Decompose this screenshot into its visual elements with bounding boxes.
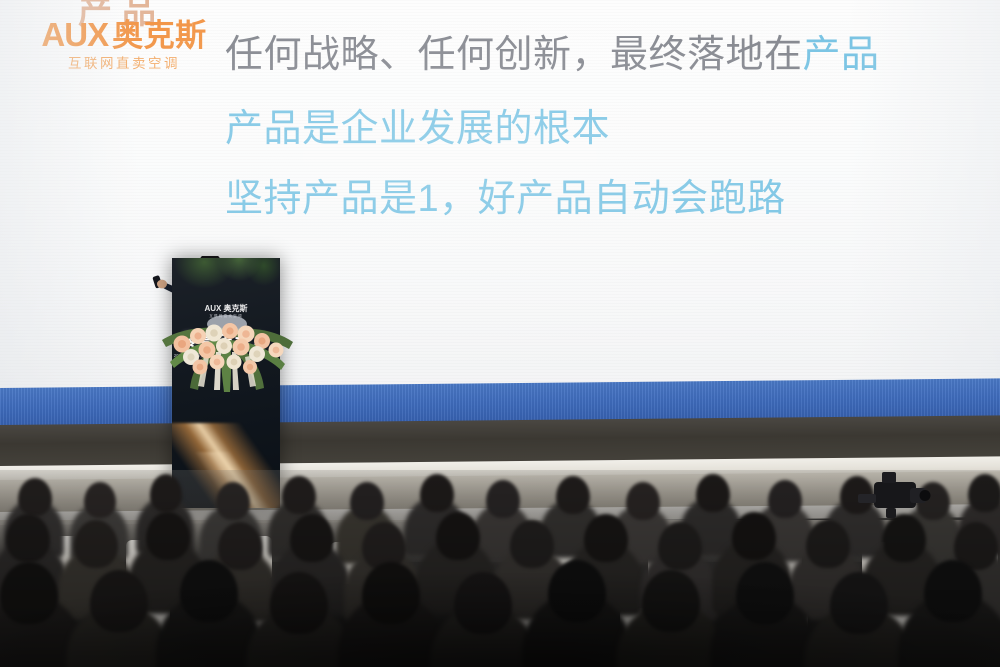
audience-member — [282, 476, 316, 514]
audience-member — [626, 482, 660, 520]
audience-member — [420, 474, 454, 512]
audience-member — [180, 560, 238, 622]
slide-text-block: 任何战略、任何创新，最终落地在产品 产品是企业发展的根本 坚持产品是1，好产品自… — [225, 36, 985, 218]
audience-seating-area — [0, 470, 1000, 667]
slide-line-3: 坚持产品是1，好产品自动会跑路 — [225, 180, 985, 218]
camera-mic — [858, 494, 876, 503]
audience-member — [74, 520, 118, 568]
camera-body — [874, 482, 916, 508]
slide-line-1: 任何战略、任何创新，最终落地在产品 — [225, 36, 985, 74]
audience-member — [18, 478, 52, 516]
audience-member — [924, 560, 982, 622]
camera-viewfinder — [882, 472, 896, 483]
audience-member — [6, 514, 50, 562]
audience-member — [362, 562, 420, 624]
audience-member — [290, 514, 334, 562]
audience-member — [696, 474, 730, 512]
audience-member — [270, 572, 328, 634]
audience-member — [218, 522, 262, 570]
audience-member — [736, 562, 794, 624]
camera-lens-glass — [920, 490, 931, 501]
slide-line-1-accent: 产品 — [803, 34, 880, 76]
camera-mount — [886, 508, 896, 518]
podium-top-foliage — [172, 258, 280, 300]
audience-member — [0, 562, 58, 624]
audience-member — [732, 512, 776, 560]
flower-arrangement — [160, 300, 295, 392]
slide-line-2: 产品是企业发展的根本 — [225, 110, 985, 148]
audience-member — [556, 476, 590, 514]
audience-member — [642, 570, 700, 632]
aux-brand-logo: AUX奥克斯 互联网直卖空调 — [34, 18, 214, 71]
audience-member — [436, 512, 480, 560]
audience-member — [454, 572, 512, 634]
audience-member — [768, 480, 802, 518]
logo-wordmark: AUX奥克斯 — [34, 18, 214, 51]
audience-member — [90, 570, 148, 632]
audience-member — [510, 520, 554, 568]
conference-photo-scene: 产品 AUX奥克斯 互联网直卖空调 任何战略、任何创新，最终落地在产品 产品是企… — [0, 0, 1000, 667]
audience-member — [350, 482, 384, 520]
audience-member — [968, 474, 1000, 512]
audience-member — [806, 520, 850, 568]
audience-member — [146, 512, 190, 560]
logo-tagline: 互联网直卖空调 — [34, 57, 214, 71]
audience-member — [150, 474, 182, 512]
audience-member — [84, 482, 116, 518]
audience-member — [658, 522, 702, 570]
logo-chinese-text: 奥克斯 — [112, 18, 207, 53]
audience-member — [584, 514, 628, 562]
audience-member — [216, 482, 250, 520]
audience-member — [830, 572, 888, 634]
audience-member — [548, 560, 606, 622]
slide-line-1-plain: 任何战略、任何创新，最终落地在 — [225, 34, 803, 76]
audience-member — [486, 480, 520, 518]
logo-latin-text: AUX — [41, 16, 108, 53]
video-camera-rig — [852, 470, 942, 524]
speaker-left-hand — [157, 280, 167, 289]
